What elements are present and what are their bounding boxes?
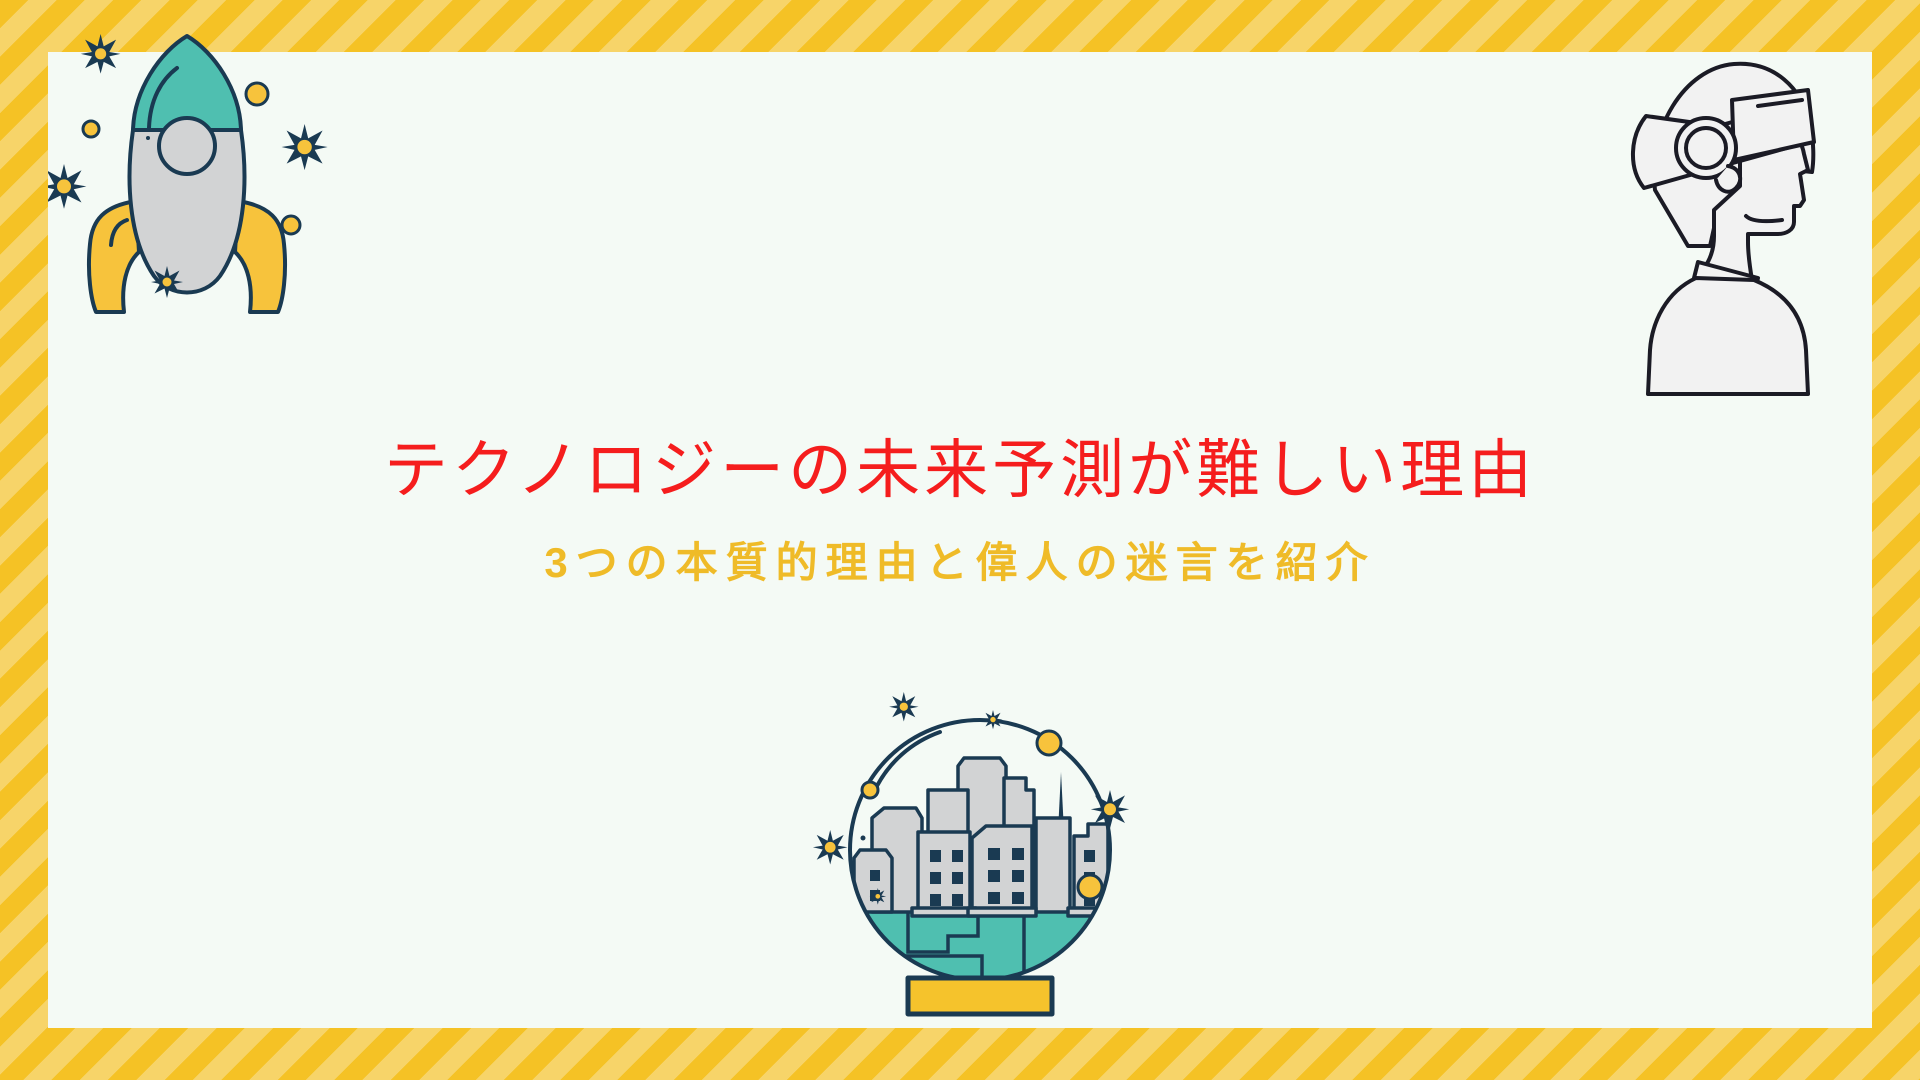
star-icon bbox=[813, 830, 848, 865]
roof-slab-center bbox=[968, 908, 1036, 916]
roof-slab-right bbox=[1068, 908, 1112, 916]
dot-icon bbox=[83, 121, 99, 137]
rocket-window bbox=[159, 118, 215, 174]
vr-torso bbox=[1648, 278, 1808, 394]
rocket-nose-dot bbox=[146, 136, 150, 140]
star-icon bbox=[282, 124, 328, 170]
page-subtitle: 3つの本質的理由と偉人の迷言を紹介 bbox=[0, 536, 1920, 591]
city-buildings bbox=[854, 758, 1112, 916]
dot-icon bbox=[246, 83, 268, 105]
dot-icon bbox=[282, 216, 300, 234]
star-icon bbox=[889, 692, 918, 721]
star-icon bbox=[983, 710, 1002, 729]
page-title: テクノロジーの未来予測が難しい理由 bbox=[0, 430, 1920, 510]
rocket-illustration bbox=[48, 28, 348, 318]
dot-icon bbox=[862, 782, 878, 798]
vr-lens-inner bbox=[1686, 128, 1726, 168]
globe-shine-dot bbox=[861, 836, 866, 841]
globe-base bbox=[908, 978, 1052, 1014]
building-right-block bbox=[1036, 818, 1070, 912]
star-icon bbox=[81, 34, 121, 74]
vr-headset-person-illustration bbox=[1622, 50, 1832, 400]
dot-icon bbox=[1078, 875, 1102, 899]
headline-block: テクノロジーの未来予測が難しい理由 3つの本質的理由と偉人の迷言を紹介 bbox=[0, 430, 1920, 591]
star-icon bbox=[48, 164, 86, 209]
slide-canvas: テクノロジーの未来予測が難しい理由 3つの本質的理由と偉人の迷言を紹介 bbox=[0, 0, 1920, 1080]
dot-icon bbox=[1037, 731, 1061, 755]
snow-globe-city-illustration bbox=[812, 690, 1152, 1030]
